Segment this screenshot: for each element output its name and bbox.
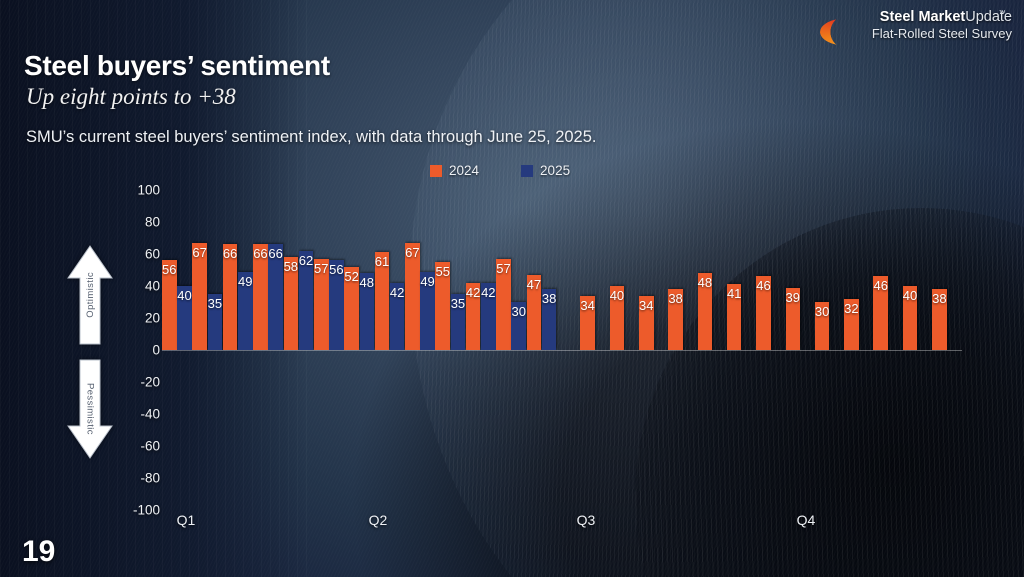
bar-2025-10: 35: [451, 294, 466, 350]
bar-2024-2: 67: [192, 243, 207, 350]
bar-value-label: 66: [253, 247, 267, 260]
bar-2024-6: 57: [314, 259, 329, 350]
bar-2025-11: 42: [481, 283, 496, 350]
bar-value-label: 61: [375, 255, 389, 268]
bar-2024-4: 66: [253, 244, 268, 350]
bar-2024-26: 38: [932, 289, 947, 350]
bar-value-label: 41: [727, 287, 741, 300]
y-axis-tick--80: -80: [140, 471, 160, 486]
bar-2025-1: 40: [177, 286, 192, 350]
bar-value-label: 40: [903, 289, 917, 302]
bar-value-label: 66: [223, 247, 237, 260]
bar-2024-9: 67: [405, 243, 420, 350]
bar-value-label: 42: [466, 286, 480, 299]
bar-value-label: 62: [299, 254, 313, 267]
bar-value-label: 32: [844, 302, 858, 315]
quarter-label-q1: Q1: [177, 512, 196, 528]
bar-value-label: 38: [668, 292, 682, 305]
quarter-label-q2: Q2: [369, 512, 388, 528]
bar-value-label: 35: [451, 297, 465, 310]
plot-area: 5640673566496666586257565248614267495535…: [162, 190, 962, 350]
bar-2024-23: 32: [844, 299, 859, 350]
bar-2025-7: 48: [360, 273, 375, 350]
sentiment-bar-chart: 100806040200-20-40-60-80-100 56406735664…: [0, 0, 1024, 577]
bar-2025-6: 56: [329, 260, 344, 350]
bar-value-label: 48: [698, 276, 712, 289]
bar-2024-3: 66: [223, 244, 238, 350]
bar-2024-18: 48: [698, 273, 713, 350]
bar-2024-11: 42: [466, 283, 481, 350]
bar-value-label: 67: [192, 246, 206, 259]
bar-2024-22: 30: [815, 302, 830, 350]
bar-2024-15: 40: [610, 286, 625, 350]
bar-value-label: 49: [238, 275, 252, 288]
bar-value-label: 56: [329, 263, 343, 276]
bar-2025-8: 42: [390, 283, 405, 350]
bar-value-label: 57: [314, 262, 328, 275]
bar-value-label: 34: [639, 299, 653, 312]
bar-2024-13: 47: [527, 275, 542, 350]
bar-2024-1: 56: [162, 260, 177, 350]
bar-value-label: 66: [268, 247, 282, 260]
bar-2024-19: 41: [727, 284, 742, 350]
bar-2024-14: 34: [580, 296, 595, 350]
bar-value-label: 52: [344, 270, 358, 283]
bar-2024-8: 61: [375, 252, 390, 350]
bar-value-label: 42: [481, 286, 495, 299]
bar-2024-5: 58: [284, 257, 299, 350]
bar-value-label: 34: [580, 299, 594, 312]
bar-2024-24: 46: [873, 276, 888, 350]
bar-value-label: 40: [610, 289, 624, 302]
bar-value-label: 38: [932, 292, 946, 305]
bar-value-label: 38: [542, 292, 556, 305]
bar-value-label: 40: [177, 289, 191, 302]
bar-value-label: 30: [511, 305, 525, 318]
zero-baseline: [162, 350, 962, 351]
y-axis-tick-60: 60: [145, 247, 160, 262]
y-axis-tick-80: 80: [145, 215, 160, 230]
bar-value-label: 47: [527, 278, 541, 291]
y-axis-tick-100: 100: [137, 183, 160, 198]
bar-2025-4: 66: [268, 244, 283, 350]
bar-2024-20: 46: [756, 276, 771, 350]
bar-2025-13: 38: [542, 289, 557, 350]
y-axis: 100806040200-20-40-60-80-100: [108, 0, 160, 577]
bar-2025-2: 35: [208, 294, 223, 350]
bar-value-label: 57: [496, 262, 510, 275]
bar-value-label: 49: [420, 275, 434, 288]
y-axis-tick-20: 20: [145, 311, 160, 326]
y-axis-tick-40: 40: [145, 279, 160, 294]
bar-value-label: 58: [284, 260, 298, 273]
y-axis-tick--100: -100: [133, 503, 160, 518]
bar-value-label: 46: [756, 279, 770, 292]
bar-2024-10: 55: [435, 262, 450, 350]
bar-2024-17: 38: [668, 289, 683, 350]
bar-2025-12: 30: [511, 302, 526, 350]
bar-2024-21: 39: [786, 288, 801, 350]
quarter-label-q3: Q3: [577, 512, 596, 528]
y-axis-tick--20: -20: [140, 375, 160, 390]
bar-value-label: 35: [208, 297, 222, 310]
bar-2024-12: 57: [496, 259, 511, 350]
y-axis-tick--60: -60: [140, 439, 160, 454]
bar-value-label: 42: [390, 286, 404, 299]
bar-value-label: 46: [873, 279, 887, 292]
quarter-label-q4: Q4: [797, 512, 816, 528]
bar-value-label: 56: [162, 263, 176, 276]
bar-value-label: 30: [815, 305, 829, 318]
slide: Steel buyers’ sentiment Up eight points …: [0, 0, 1024, 577]
bar-2025-3: 49: [238, 272, 253, 350]
y-axis-tick--40: -40: [140, 407, 160, 422]
bar-2024-25: 40: [903, 286, 918, 350]
bar-2025-9: 49: [420, 272, 435, 350]
bar-value-label: 39: [786, 291, 800, 304]
bar-2025-5: 62: [299, 251, 314, 350]
bar-value-label: 48: [360, 276, 374, 289]
bar-value-label: 67: [405, 246, 419, 259]
bar-2024-16: 34: [639, 296, 654, 350]
y-axis-tick-0: 0: [152, 343, 160, 358]
bar-value-label: 55: [436, 265, 450, 278]
bar-2024-7: 52: [344, 267, 359, 350]
